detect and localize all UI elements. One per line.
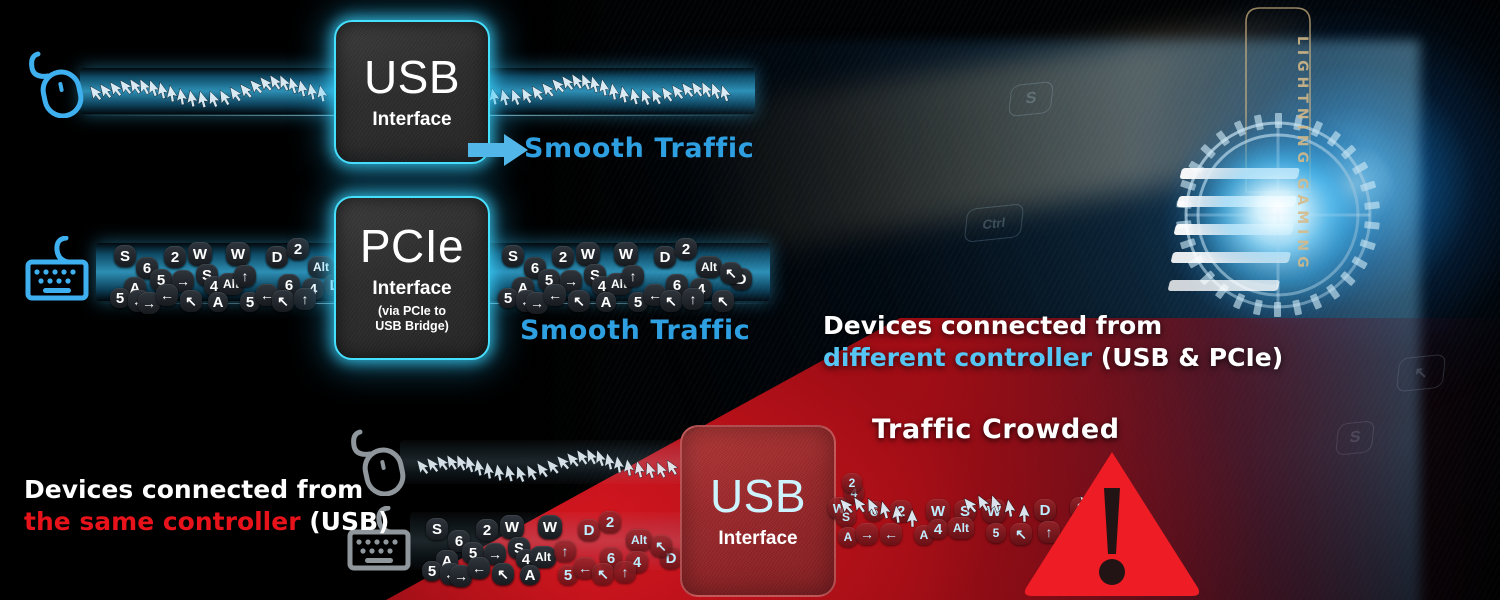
- key-chip: D: [654, 246, 676, 268]
- key-chip: ↑: [554, 540, 576, 562]
- key-chip: 2: [890, 500, 912, 522]
- traffic-crowded-label: Traffic Crowded: [872, 414, 1120, 445]
- callout-line-1: Devices connected from: [823, 310, 1283, 342]
- key-chip: S: [836, 507, 856, 527]
- key-chip: ↖: [272, 290, 294, 312]
- key-chip: 2: [552, 246, 574, 268]
- usb-interface-block-top[interactable]: USB Interface: [334, 20, 490, 164]
- block-subtitle: Interface: [718, 528, 797, 550]
- block-title: USB: [364, 54, 460, 100]
- key-chip: W: [614, 242, 638, 266]
- key-chip: A: [208, 292, 228, 312]
- key-chip: ←: [544, 284, 566, 306]
- emblem-banner-text: LIGHTNING GAMING: [1294, 36, 1310, 273]
- top-lane-right: [455, 68, 755, 114]
- key-chip: 2: [476, 519, 498, 541]
- key-chip: ↖: [568, 290, 590, 312]
- key-chip: 2: [675, 238, 697, 260]
- key-chip: W: [982, 499, 1006, 523]
- callout-same-controller: Devices connected from the same controll…: [24, 474, 324, 538]
- key-chip: ↖: [660, 290, 682, 312]
- key-chip: Alt: [696, 256, 722, 278]
- key-chip: ↖: [492, 563, 514, 585]
- key-chip: 5: [110, 288, 130, 308]
- key-chip: W: [576, 242, 600, 266]
- callout-line-1: Devices connected from: [24, 474, 324, 506]
- key-chip: W: [188, 242, 212, 266]
- key-chip: ↖: [720, 262, 742, 284]
- key-chip: ↖: [180, 290, 202, 312]
- key-chip: ↑: [622, 265, 644, 287]
- usb-interface-block-bottom[interactable]: USB Interface: [680, 425, 836, 597]
- smooth-traffic-label-top: Smooth Traffic: [524, 133, 754, 164]
- callout-line-2: the same controller (USB): [24, 506, 324, 538]
- callout-highlight: the same controller: [24, 507, 301, 536]
- key-chip: ↑: [682, 288, 704, 310]
- key-chip: Alt: [948, 517, 974, 539]
- block-subtitle: Interface: [372, 109, 451, 131]
- key-chip: A: [596, 292, 616, 312]
- key-chip: 2: [287, 238, 309, 260]
- key-chip: 4: [928, 519, 948, 539]
- key-chip: 2: [842, 473, 862, 493]
- key-chip: W: [226, 242, 250, 266]
- callout-rest: (USB): [301, 507, 390, 536]
- key-chip: W: [500, 515, 524, 539]
- key-chip: 5: [986, 523, 1006, 543]
- pcie-interface-block[interactable]: PCIe Interface (via PCIe to USB Bridge): [334, 196, 490, 360]
- key-chip: S: [426, 518, 448, 540]
- block-note-line2: USB Bridge): [375, 319, 449, 334]
- bottom-lane-mouse: [400, 440, 700, 484]
- callout-line-2: different controller (USB & PCIe): [823, 342, 1283, 374]
- key-chip: ↖: [592, 563, 614, 585]
- key-chip: ↑: [614, 561, 636, 583]
- keyboard-icon: [18, 236, 94, 319]
- key-chip: →: [856, 523, 878, 545]
- key-chip: ↑: [234, 265, 256, 287]
- key-chip: 2: [599, 511, 621, 533]
- key-chip: ←: [468, 557, 490, 579]
- gear-emblem-icon: LIGHTNING GAMING: [1128, 0, 1428, 330]
- smooth-traffic-label-middle: Smooth Traffic: [520, 315, 750, 346]
- key-chip: S: [114, 245, 136, 267]
- key-chip: W: [538, 515, 562, 539]
- key-chip: 6: [864, 501, 884, 521]
- key-chip: ←: [880, 523, 902, 545]
- infographic-canvas: S Ctrl ↖ S: [0, 0, 1500, 600]
- key-chip: D: [266, 246, 288, 268]
- key-chip: A: [520, 565, 540, 585]
- key-chip: 5: [498, 288, 518, 308]
- key-chip: ←: [156, 284, 178, 306]
- warning-triangle-icon: [1022, 448, 1202, 600]
- mouse-icon: [22, 46, 92, 123]
- key-chip: ↑: [294, 288, 316, 310]
- block-title: USB: [710, 473, 806, 519]
- block-title: PCIe: [360, 223, 464, 269]
- block-note-line1: (via PCIe to: [378, 304, 446, 319]
- callout-different-controller: Devices connected from different control…: [823, 310, 1283, 374]
- key-chip: ↖: [650, 535, 672, 557]
- key-chip: 2: [164, 246, 186, 268]
- key-chip: Alt: [626, 529, 652, 551]
- callout-rest: (USB & PCIe): [1092, 343, 1283, 372]
- key-chip: A: [838, 527, 858, 547]
- key-chip: ↖: [712, 290, 734, 312]
- key-chip: S: [502, 245, 524, 267]
- callout-highlight: different controller: [823, 343, 1092, 372]
- key-chip: 5: [422, 561, 442, 581]
- right-arrow-icon: [468, 132, 530, 173]
- key-chip: D: [578, 519, 600, 541]
- block-subtitle: Interface: [372, 278, 451, 300]
